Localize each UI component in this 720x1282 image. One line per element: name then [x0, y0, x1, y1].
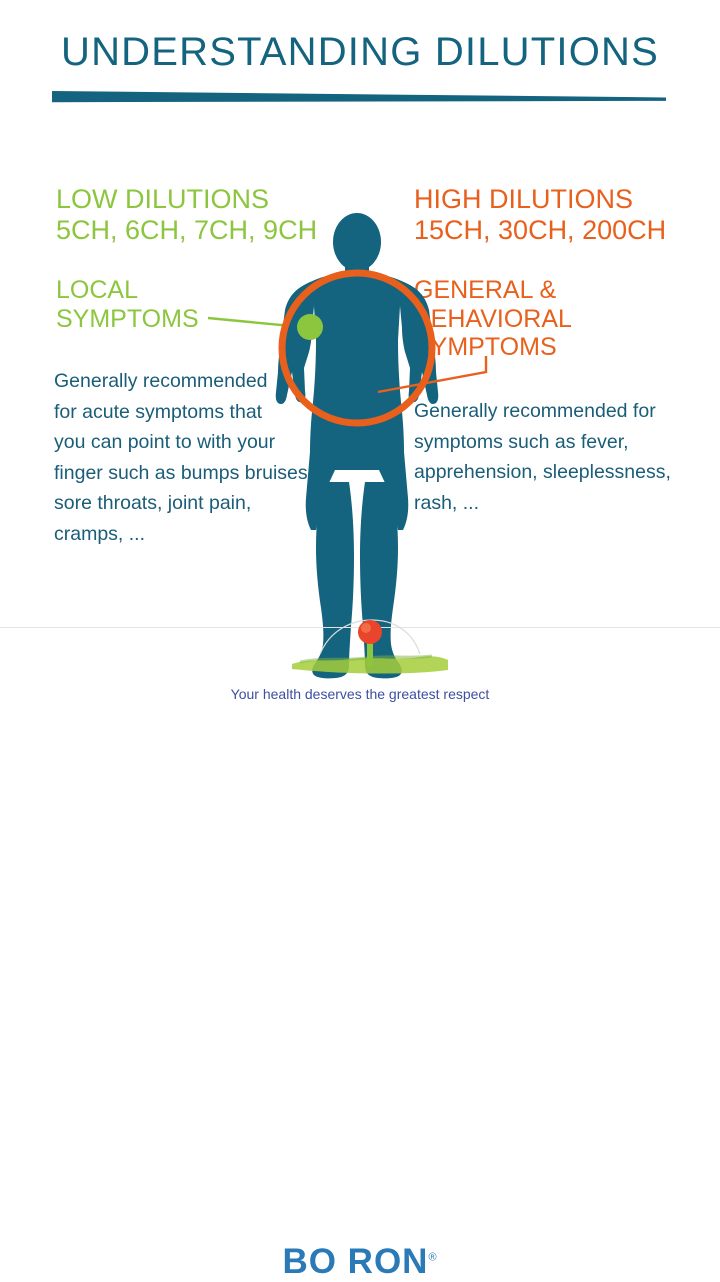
brand-name-before: BO [282, 1242, 337, 1281]
logo-flower-highlight [361, 623, 371, 633]
page-title: UNDERSTANDING DILUTIONS [0, 30, 720, 75]
brand-tagline: Your health deserves the greatest respec… [0, 686, 720, 702]
local-symptoms-heading: LOCAL SYMPTOMS [56, 276, 199, 333]
low-dilutions-description: Generally recommended for acute symptoms… [54, 366, 344, 550]
brand-wordmark: BOIRON® [0, 1242, 720, 1282]
low-dilutions-heading: LOW DILUTIONS 5CH, 6CH, 7CH, 9CH [56, 184, 317, 246]
local-symptoms-leader-line [208, 318, 302, 327]
registered-trademark-icon: ® [428, 1251, 437, 1263]
boiron-logo: BOIRON® [0, 612, 720, 682]
title-underline-rule [52, 91, 666, 108]
high-dilutions-description: Generally recommended for symptoms such … [414, 396, 684, 518]
local-symptom-marker-dot [297, 314, 323, 340]
general-behavioral-symptoms-heading: GENERAL & BEHAVIORAL SYMPTOMS [414, 276, 572, 362]
logo-artwork [0, 612, 720, 682]
brand-name-after: RON [348, 1242, 429, 1281]
high-dilutions-heading: HIGH DILUTIONS 15CH, 30CH, 200CH [414, 184, 666, 246]
infographic-poster: UNDERSTANDING DILUTIONS LOW DILUTIONS 5C… [0, 0, 720, 720]
logo-flower-head [358, 620, 382, 644]
